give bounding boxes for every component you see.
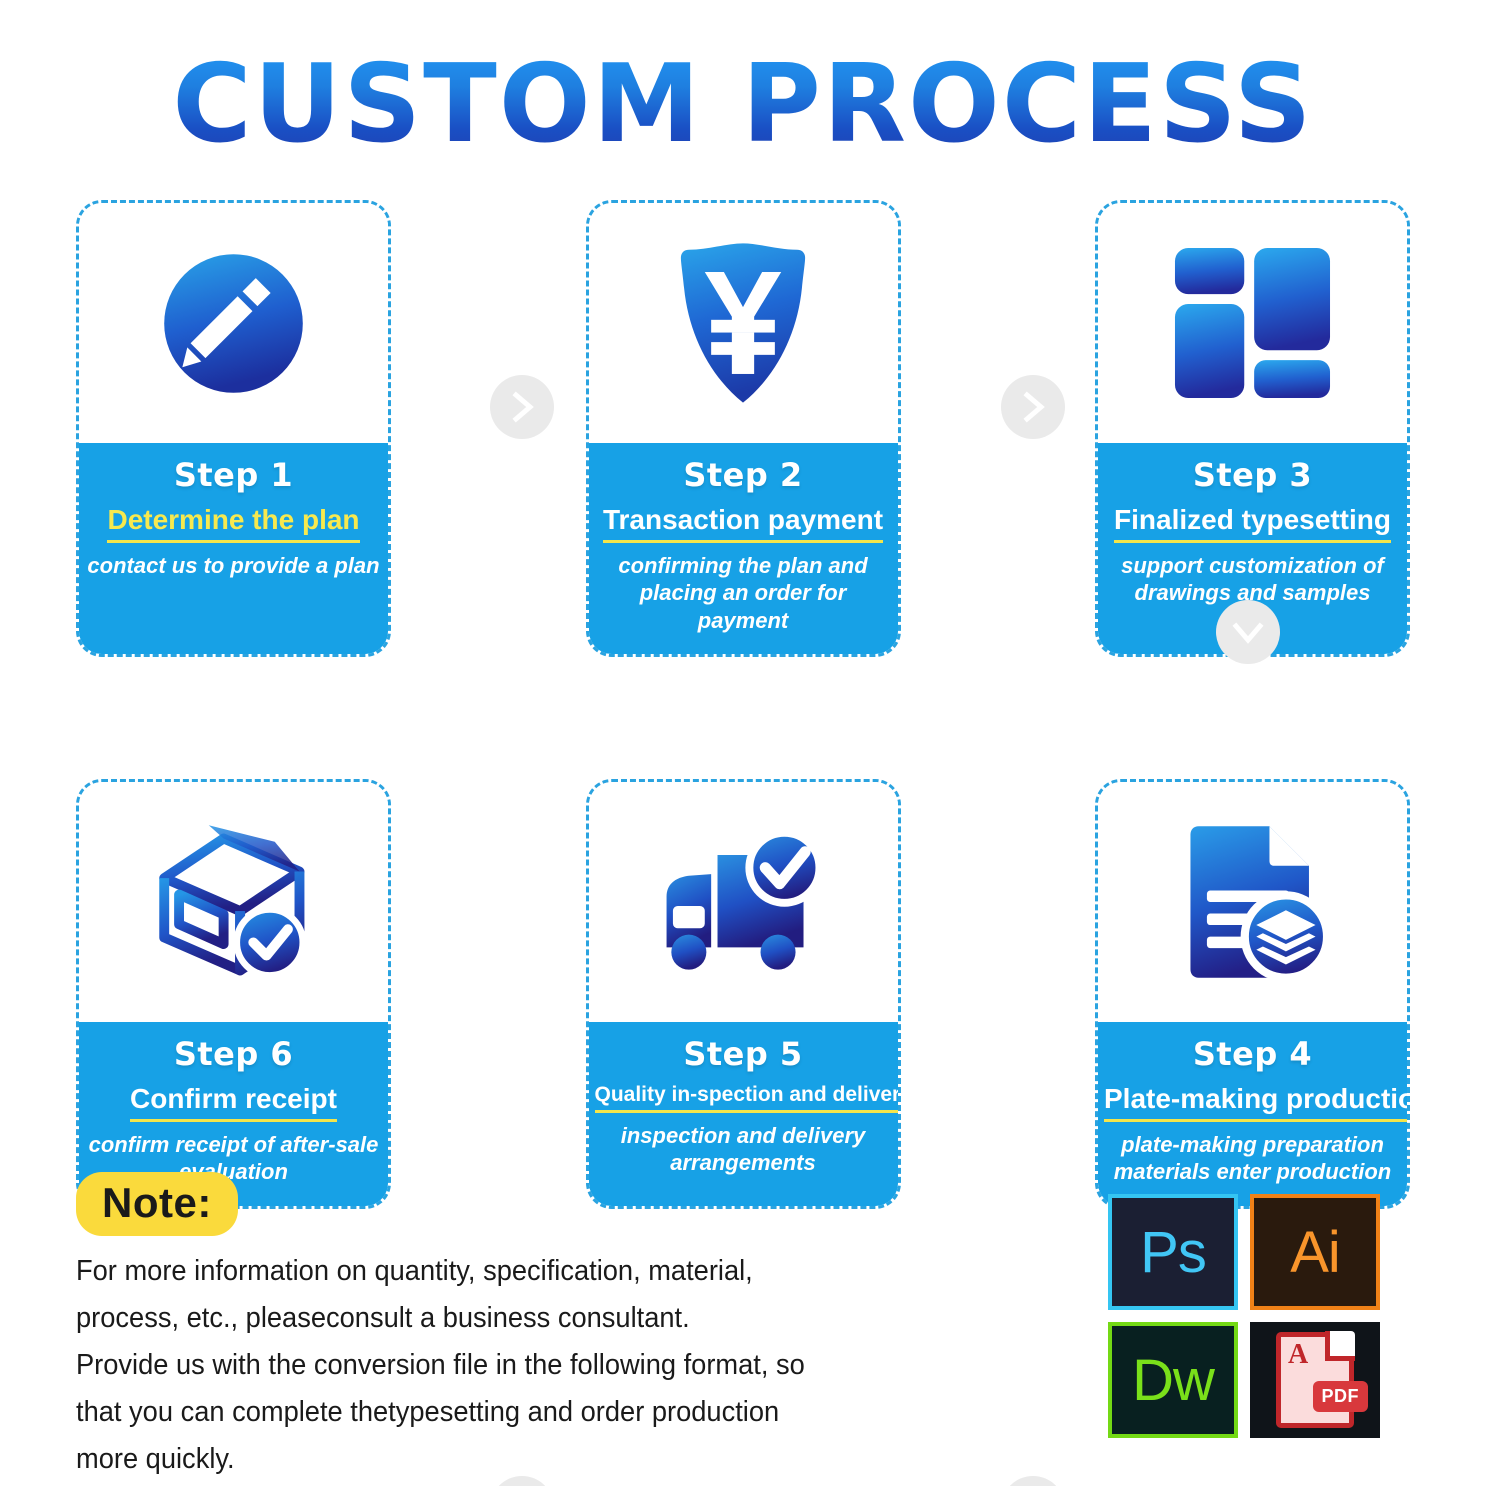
connector-step2-to-step3 <box>1001 375 1065 439</box>
step-4-number: Step 4 <box>1104 1036 1401 1073</box>
illustrator-icon[interactable]: Ai <box>1250 1194 1380 1310</box>
step-2-icon-area <box>589 203 898 443</box>
step-1-title: Determine the plan <box>107 502 359 543</box>
steps-row-bottom: Step 6 Confirm receipt confirm receipt o… <box>76 779 1410 1209</box>
document-layers-icon <box>1174 821 1332 983</box>
delivery-truck-check-icon <box>657 826 829 978</box>
step-2-description: confirming the plan and placing an order… <box>595 552 892 634</box>
step-5-description: inspection and delivery arrangements <box>595 1122 892 1177</box>
connector-step3-to-step4 <box>1216 600 1280 664</box>
step-1-band: Step 1 Determine the plan contact us to … <box>79 443 388 654</box>
step-2-band: Step 2 Transaction payment confirming th… <box>589 443 898 654</box>
pdf-document-art: A PDF <box>1276 1332 1354 1428</box>
shield-yen-icon <box>663 237 823 409</box>
step-6-title: Confirm receipt <box>130 1081 337 1122</box>
step-card-3[interactable]: Step 3 Finalized typesetting support cus… <box>1095 200 1410 657</box>
step-1-description: contact us to provide a plan <box>85 552 382 579</box>
connector-step4-to-step5 <box>1001 1476 1065 1486</box>
step-4-description: plate-making preparation materials enter… <box>1104 1131 1401 1186</box>
note-badge: Note: <box>76 1172 238 1236</box>
photoshop-label: Ps <box>1140 1219 1206 1286</box>
step-5-band: Step 5 Quality in-spection and delivery … <box>589 1022 898 1206</box>
step-4-band: Step 4 Plate-making production plate-mak… <box>1098 1022 1407 1206</box>
step-card-5[interactable]: Step 5 Quality in-spection and delivery … <box>586 779 901 1209</box>
step-5-icon-area <box>589 782 898 1022</box>
chevron-down-icon <box>1231 617 1265 647</box>
page-title: CUSTOM PROCESS <box>0 48 1486 161</box>
step-card-1[interactable]: Step 1 Determine the plan contact us to … <box>76 200 391 657</box>
step-6-icon-area <box>79 782 388 1022</box>
step-card-4[interactable]: Step 4 Plate-making production plate-mak… <box>1095 779 1410 1209</box>
step-1-icon-area <box>79 203 388 443</box>
step-2-title: Transaction payment <box>603 502 883 543</box>
step-5-title: Quality in-spection and delivery <box>595 1081 901 1113</box>
pdf-icon[interactable]: A PDF <box>1250 1322 1380 1438</box>
steps-grid: Step 1 Determine the plan contact us to … <box>76 200 1410 1209</box>
supported-file-formats: Ps Ai Dw A PDF <box>1108 1194 1386 1444</box>
step-card-2[interactable]: Step 2 Transaction payment confirming th… <box>586 200 901 657</box>
photoshop-icon[interactable]: Ps <box>1108 1194 1238 1310</box>
step-6-number: Step 6 <box>85 1036 382 1073</box>
box-check-icon <box>151 822 316 982</box>
step-3-number: Step 3 <box>1104 457 1401 494</box>
step-5-number: Step 5 <box>595 1036 892 1073</box>
chevron-right-icon <box>507 390 537 424</box>
step-3-icon-area <box>1098 203 1407 443</box>
step-4-title: Plate-making production <box>1104 1081 1410 1122</box>
chevron-right-icon <box>1018 390 1048 424</box>
dreamweaver-icon[interactable]: Dw <box>1108 1322 1238 1438</box>
pdf-label: PDF <box>1313 1381 1369 1412</box>
illustrator-label: Ai <box>1290 1219 1340 1286</box>
step-2-number: Step 2 <box>595 457 892 494</box>
pencil-circle-icon <box>151 241 316 406</box>
pdf-corner-fold <box>1325 1331 1355 1361</box>
dreamweaver-label: Dw <box>1132 1347 1214 1414</box>
steps-row-top: Step 1 Determine the plan contact us to … <box>76 200 1410 657</box>
step-3-description: support customization of drawings and sa… <box>1104 552 1401 607</box>
infographic-page: CUSTOM PROCESS <box>0 0 1486 1486</box>
layout-grid-icon <box>1170 243 1335 403</box>
connector-step1-to-step2 <box>490 375 554 439</box>
note-body-text: For more information on quantity, specif… <box>76 1248 856 1483</box>
step-1-number: Step 1 <box>85 457 382 494</box>
acrobat-glyph: A <box>1288 1341 1307 1369</box>
step-3-title: Finalized typesetting <box>1114 502 1391 543</box>
step-card-6[interactable]: Step 6 Confirm receipt confirm receipt o… <box>76 779 391 1209</box>
step-4-icon-area <box>1098 782 1407 1022</box>
